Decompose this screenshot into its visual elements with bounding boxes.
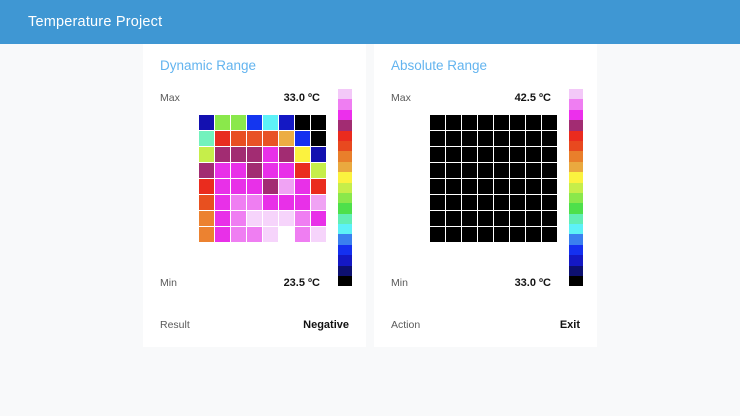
heatmap-cell	[494, 195, 509, 210]
heatmap-cell	[279, 227, 294, 242]
card-title-absolute-range: Absolute Range	[391, 58, 583, 73]
color-scale-segment	[338, 203, 352, 213]
heatmap-cell	[494, 227, 509, 242]
heatmap-cell	[494, 163, 509, 178]
heatmap-cell	[263, 115, 278, 130]
color-scale-segment	[569, 99, 583, 109]
heatmap-cell	[462, 147, 477, 162]
heatmap-cell	[462, 115, 477, 130]
heatmap-cell	[263, 211, 278, 226]
max-value-absolute: 42.5 ºC	[515, 92, 551, 104]
heatmap-cell	[446, 131, 461, 146]
exit-button[interactable]: Exit	[560, 319, 580, 331]
color-scale-segment	[569, 214, 583, 224]
heatmap-cell	[231, 163, 246, 178]
heatmap-cell	[295, 115, 310, 130]
heatmap-cell	[247, 115, 262, 130]
heatmap-cell	[526, 179, 541, 194]
heatmap-cell	[478, 179, 493, 194]
heatmap-cell	[526, 195, 541, 210]
heatmap-cell	[231, 227, 246, 242]
heatmap-cell	[542, 147, 557, 162]
heatmap-cell	[215, 147, 230, 162]
color-scale-segment	[338, 141, 352, 151]
heatmap-cell	[247, 163, 262, 178]
heatmap-cell	[199, 163, 214, 178]
color-scale-segment	[338, 276, 352, 286]
heatmap-cell	[478, 115, 493, 130]
color-scale-segment	[569, 193, 583, 203]
heatmap-cell	[279, 131, 294, 146]
heatmap-cell	[263, 163, 278, 178]
heatmap-cell	[295, 195, 310, 210]
heatmap-cell	[430, 227, 445, 242]
color-scale-segment	[338, 234, 352, 244]
result-label: Result	[160, 319, 190, 331]
heatmap-cell	[311, 179, 326, 194]
color-scale-segment	[569, 203, 583, 213]
heatmap-cell	[311, 227, 326, 242]
heatmap-cell	[215, 163, 230, 178]
heatmap-cell	[199, 179, 214, 194]
card-footer-dynamic: Result Negative	[157, 303, 352, 347]
heatmap-cell	[199, 115, 214, 130]
card-dynamic-range: Dynamic Range Max 33.0 ºC Min 23.5 ºC Re…	[143, 44, 366, 347]
app-title: Temperature Project	[28, 14, 162, 30]
heatmap-cell	[247, 147, 262, 162]
card-title-dynamic-range: Dynamic Range	[160, 58, 352, 73]
color-scale-segment	[569, 120, 583, 130]
heatmap-cell	[478, 163, 493, 178]
heatmap-cell	[510, 211, 525, 226]
heatmap-cell	[526, 211, 541, 226]
heatmap-cell	[263, 131, 278, 146]
color-scale-segment	[569, 162, 583, 172]
color-scale-segment	[338, 183, 352, 193]
color-scale-segment	[338, 193, 352, 203]
heatmap-cell	[247, 179, 262, 194]
heatmap-cell	[311, 163, 326, 178]
heatmap-cell	[430, 195, 445, 210]
heatmap-cell	[279, 115, 294, 130]
color-scale-segment	[338, 162, 352, 172]
app-bar: Temperature Project	[0, 0, 740, 44]
color-scale-segment	[338, 131, 352, 141]
heatmap-cell	[526, 163, 541, 178]
heatmap-cell	[494, 115, 509, 130]
heatmap-cell	[199, 227, 214, 242]
heatmap-cell	[494, 131, 509, 146]
heatmap-cell	[295, 147, 310, 162]
heatmap-cell	[279, 211, 294, 226]
heatmap-cell	[215, 115, 230, 130]
heatmap-cell	[462, 179, 477, 194]
heatmap-cell	[199, 131, 214, 146]
heatmap-cell	[199, 147, 214, 162]
heatmap-cell	[462, 163, 477, 178]
heatmap-cell	[478, 211, 493, 226]
max-reading-row-dynamic: Max 33.0 ºC	[160, 92, 320, 104]
heatmap-cell	[510, 163, 525, 178]
heatmap-cell	[478, 195, 493, 210]
heatmap-cell	[215, 131, 230, 146]
color-scale-segment	[569, 141, 583, 151]
heatmap-cell	[542, 179, 557, 194]
max-label-absolute: Max	[391, 92, 411, 104]
heatmap-cell	[542, 227, 557, 242]
heatmap-cell	[430, 211, 445, 226]
heatmap-cell	[263, 227, 278, 242]
heatmap-cell	[478, 227, 493, 242]
color-scale-absolute	[569, 89, 583, 286]
heatmap-grid-absolute[interactable]	[430, 115, 557, 242]
heatmap-cell	[494, 211, 509, 226]
min-value-absolute: 33.0 ºC	[515, 277, 551, 289]
heatmap-cell	[247, 227, 262, 242]
color-scale-segment	[338, 120, 352, 130]
color-scale-segment	[338, 255, 352, 265]
heatmap-cell	[446, 179, 461, 194]
color-scale-segment	[569, 255, 583, 265]
heatmap-cell	[430, 115, 445, 130]
heatmap-cell	[231, 115, 246, 130]
heatmap-cell	[247, 131, 262, 146]
heatmap-cell	[542, 115, 557, 130]
heatmap-cell	[462, 227, 477, 242]
heatmap-cell	[311, 115, 326, 130]
heatmap-cell	[215, 195, 230, 210]
heatmap-cell	[446, 163, 461, 178]
heatmap-grid-dynamic[interactable]	[199, 115, 326, 242]
heatmap-cell	[462, 131, 477, 146]
heatmap-cell	[446, 115, 461, 130]
heatmap-cell	[263, 147, 278, 162]
heatmap-cell	[231, 211, 246, 226]
card-body-absolute-range: Max 42.5 ºC Min 33.0 ºC	[388, 85, 583, 303]
heatmap-cell	[231, 131, 246, 146]
heatmap-cell	[231, 195, 246, 210]
app-root: Temperature Project Dynamic Range Max 33…	[0, 0, 740, 416]
min-value-dynamic: 23.5 ºC	[284, 277, 320, 289]
color-scale-segment	[569, 276, 583, 286]
heatmap-cell	[526, 147, 541, 162]
color-scale-segment	[338, 99, 352, 109]
heatmap-cell	[279, 179, 294, 194]
heatmap-cell	[279, 147, 294, 162]
heatmap-cell	[526, 227, 541, 242]
color-scale-dynamic	[338, 89, 352, 286]
color-scale-segment	[569, 131, 583, 141]
min-label-absolute: Min	[391, 277, 408, 289]
color-scale-segment	[338, 224, 352, 234]
color-scale-segment	[338, 89, 352, 99]
color-scale-segment	[569, 172, 583, 182]
max-reading-row-absolute: Max 42.5 ºC	[391, 92, 551, 104]
color-scale-segment	[569, 89, 583, 99]
heatmap-cell	[199, 195, 214, 210]
color-scale-segment	[569, 183, 583, 193]
heatmap-cell	[446, 211, 461, 226]
min-reading-row-dynamic: Min 23.5 ºC	[160, 277, 320, 289]
heatmap-cell	[295, 179, 310, 194]
min-label-dynamic: Min	[160, 277, 177, 289]
color-scale-segment	[569, 234, 583, 244]
action-label: Action	[391, 319, 420, 331]
heatmap-cell	[311, 147, 326, 162]
heatmap-cell	[446, 195, 461, 210]
heatmap-cell	[295, 131, 310, 146]
color-scale-segment	[338, 266, 352, 276]
heatmap-cell	[311, 131, 326, 146]
heatmap-cell	[295, 163, 310, 178]
heatmap-cell	[199, 211, 214, 226]
color-scale-segment	[338, 110, 352, 120]
heatmap-cell	[542, 163, 557, 178]
heatmap-cell	[462, 211, 477, 226]
heatmap-cell	[430, 163, 445, 178]
heatmap-cell	[510, 115, 525, 130]
color-scale-segment	[338, 172, 352, 182]
heatmap-cell	[510, 147, 525, 162]
heatmap-cell	[494, 179, 509, 194]
color-scale-segment	[569, 110, 583, 120]
heatmap-cell	[247, 211, 262, 226]
heatmap-cell	[215, 179, 230, 194]
heatmap-cell	[462, 195, 477, 210]
heatmap-cell	[430, 147, 445, 162]
heatmap-cell	[231, 179, 246, 194]
heatmap-cell	[510, 131, 525, 146]
color-scale-segment	[338, 151, 352, 161]
heatmap-cell	[295, 211, 310, 226]
heatmap-cell	[311, 211, 326, 226]
heatmap-cell	[263, 179, 278, 194]
heatmap-cell	[311, 195, 326, 210]
heatmap-cell	[263, 195, 278, 210]
color-scale-segment	[569, 245, 583, 255]
heatmap-cell	[510, 227, 525, 242]
heatmap-cell	[247, 195, 262, 210]
heatmap-cell	[542, 195, 557, 210]
heatmap-cell	[446, 147, 461, 162]
max-value-dynamic: 33.0 ºC	[284, 92, 320, 104]
min-reading-row-absolute: Min 33.0 ºC	[391, 277, 551, 289]
heatmap-cell	[542, 211, 557, 226]
heatmap-cell	[430, 131, 445, 146]
heatmap-cell	[279, 163, 294, 178]
color-scale-segment	[338, 214, 352, 224]
heatmap-cell	[526, 115, 541, 130]
color-scale-segment	[338, 245, 352, 255]
color-scale-segment	[569, 266, 583, 276]
heatmap-cell	[430, 179, 445, 194]
heatmap-cell	[526, 131, 541, 146]
max-label-dynamic: Max	[160, 92, 180, 104]
heatmap-cell	[231, 147, 246, 162]
heatmap-cell	[510, 195, 525, 210]
card-absolute-range: Absolute Range Max 42.5 ºC Min 33.0 ºC A…	[374, 44, 597, 347]
heatmap-cell	[542, 131, 557, 146]
heatmap-cell	[446, 227, 461, 242]
heatmap-cell	[510, 179, 525, 194]
heatmap-cell	[478, 147, 493, 162]
heatmap-cell	[279, 195, 294, 210]
result-value[interactable]: Negative	[303, 319, 349, 331]
card-body-dynamic-range: Max 33.0 ºC Min 23.5 ºC	[157, 85, 352, 303]
heatmap-cell	[215, 227, 230, 242]
heatmap-cell	[215, 211, 230, 226]
color-scale-segment	[569, 151, 583, 161]
heatmap-cell	[295, 227, 310, 242]
card-footer-absolute: Action Exit	[388, 303, 583, 347]
card-container: Dynamic Range Max 33.0 ºC Min 23.5 ºC Re…	[143, 44, 597, 347]
color-scale-segment	[569, 224, 583, 234]
heatmap-cell	[494, 147, 509, 162]
heatmap-cell	[478, 131, 493, 146]
